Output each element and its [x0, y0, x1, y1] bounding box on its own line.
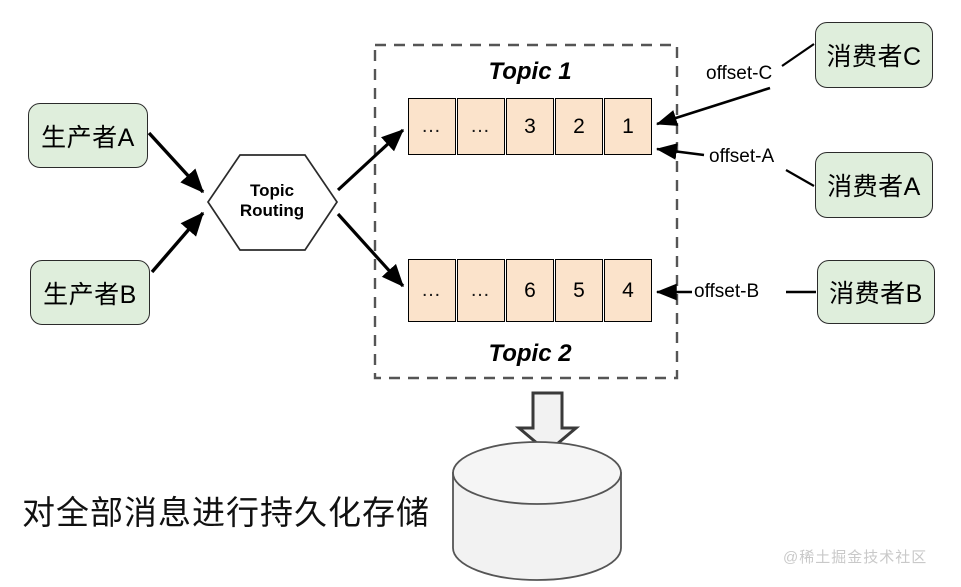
topic-2-cell-3-value: 5	[573, 279, 585, 303]
topic-1-cell-1[interactable]: …	[457, 98, 505, 155]
storage-inbound-arrow-icon	[519, 393, 576, 452]
producer-b-label: 生产者B	[43, 275, 137, 311]
topic-1-cell-4-value: 1	[622, 115, 634, 139]
storage-cylinder-icon	[453, 442, 621, 580]
edge-router-to-topic-1	[338, 130, 403, 190]
topic-2-cell-0[interactable]: …	[408, 259, 456, 322]
leader-offset-a-to-consumer-a	[786, 170, 814, 186]
edge-offset-a-to-topic-1	[657, 149, 704, 155]
producer-b-box[interactable]: 生产者B	[30, 260, 150, 325]
consumer-c-box[interactable]: 消费者C	[815, 22, 933, 88]
edge-router-to-topic-2	[338, 214, 403, 286]
producer-a-label: 生产者A	[41, 118, 135, 154]
diagram-canvas: 生产者A 生产者B Topic Routing Topic 1 … … 3 2 …	[0, 0, 961, 587]
topic-1-cell-2[interactable]: 3	[506, 98, 554, 155]
topic-2-cell-3[interactable]: 5	[555, 259, 603, 322]
leader-offset-c-to-consumer-c	[782, 44, 814, 66]
storage-caption: 对全部消息进行持久化存储	[22, 486, 430, 534]
topic-routing-label-line2: Routing	[202, 201, 342, 221]
topic-1-cell-0-value: …	[421, 115, 443, 138]
producer-a-box[interactable]: 生产者A	[28, 103, 148, 168]
topic-2-cell-2[interactable]: 6	[506, 259, 554, 322]
consumer-b-label: 消费者B	[829, 274, 923, 310]
topic-1-title: Topic 1	[455, 58, 605, 86]
topic-routing-label: Topic Routing	[202, 181, 342, 222]
offset-c-label: offset-C	[706, 63, 772, 85]
topic-2-cell-2-value: 6	[524, 279, 536, 303]
consumer-c-label: 消费者C	[826, 37, 921, 73]
topic-2-cell-1-value: …	[470, 279, 492, 302]
consumer-b-box[interactable]: 消费者B	[817, 260, 935, 324]
topic-2-cell-4[interactable]: 4	[604, 259, 652, 322]
offset-b-label: offset-B	[694, 281, 759, 303]
topic-1-cell-1-value: …	[470, 115, 492, 138]
topic-2-title: Topic 2	[455, 340, 605, 368]
topic-1-cell-0[interactable]: …	[408, 98, 456, 155]
topic-2-cell-0-value: …	[421, 279, 443, 302]
topic-1-cell-3-value: 2	[573, 115, 585, 139]
edge-offset-c-to-topic-1	[657, 88, 770, 124]
offset-a-label: offset-A	[709, 146, 774, 168]
topic-routing-label-line1: Topic	[202, 181, 342, 201]
edge-producer-b-to-router	[152, 213, 203, 272]
topic-group-boundary	[375, 45, 677, 378]
watermark: @稀土掘金技术社区	[783, 546, 927, 567]
topic-1-cell-2-value: 3	[524, 115, 536, 139]
consumer-a-label: 消费者A	[827, 167, 921, 203]
topic-2-cell-1[interactable]: …	[457, 259, 505, 322]
topic-1-cell-3[interactable]: 2	[555, 98, 603, 155]
consumer-a-box[interactable]: 消费者A	[815, 152, 933, 218]
edge-producer-a-to-router	[149, 133, 203, 192]
topic-1-cell-4[interactable]: 1	[604, 98, 652, 155]
topic-2-cell-4-value: 4	[622, 279, 634, 303]
